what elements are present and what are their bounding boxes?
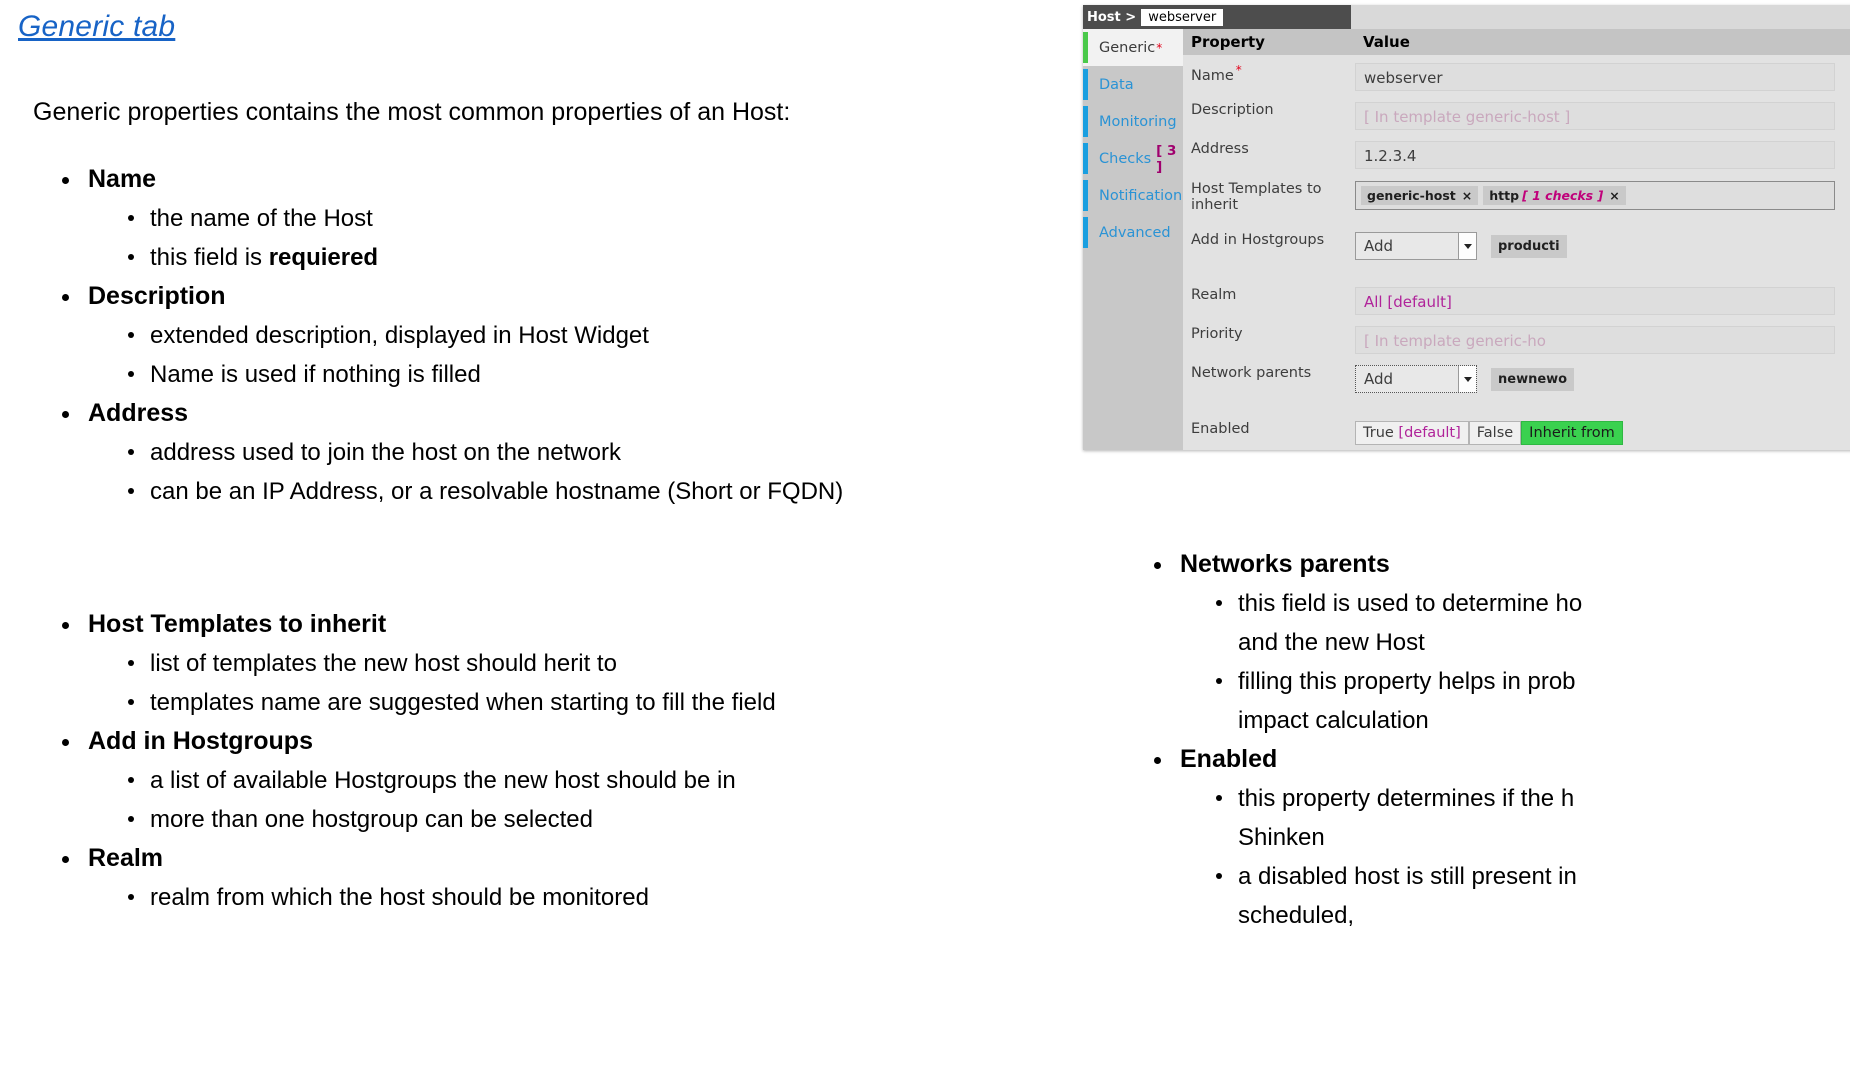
- detail-text: realm from which the host should be moni…: [150, 884, 649, 911]
- bullet-icon: [1154, 757, 1161, 764]
- list-item: realm from which the host should be moni…: [88, 878, 1075, 917]
- template-tag[interactable]: generic-host×: [1361, 186, 1478, 205]
- row-label-text: Add in Hostgroups: [1191, 232, 1324, 248]
- row-value: [ In template generic-host ]: [1355, 102, 1850, 130]
- tab-notifications[interactable]: Notifications: [1083, 177, 1183, 214]
- breadcrumb-host-name: webserver: [1141, 9, 1223, 26]
- table-row: Name* webserver: [1183, 63, 1850, 91]
- sub-list: extended description, displayed in Host …: [88, 316, 1075, 394]
- hostgroups-select-value: Add: [1364, 237, 1393, 255]
- list-item: Add in Hostgroups a list of available Ho…: [0, 722, 1075, 839]
- property-value-table: Property Value Name* webserver Descripti…: [1183, 29, 1850, 450]
- detail-text-continued: impact calculation: [1238, 701, 1850, 740]
- table-row: Host Templates to inherit generic-host× …: [1183, 181, 1850, 213]
- row-value: Add producti: [1355, 232, 1850, 260]
- table-header-row: Property Value: [1183, 29, 1850, 55]
- row-value: [ In template generic-ho: [1355, 326, 1850, 354]
- row-label: Network parents: [1183, 365, 1355, 381]
- bullet-icon: [62, 739, 69, 746]
- bullet-icon: [128, 254, 134, 260]
- bullet-icon: [62, 294, 69, 301]
- tab-label: Notifications: [1099, 188, 1190, 204]
- row-label: Realm: [1183, 287, 1355, 303]
- property-list-right: Networks parents this field is used to d…: [1100, 545, 1850, 935]
- enabled-toggle-group: True [default] False Inherit from: [1355, 421, 1850, 445]
- tab-label: Monitoring: [1099, 114, 1177, 130]
- sub-list: this field is used to determine ho and t…: [1180, 584, 1850, 740]
- bullet-icon: [128, 332, 134, 338]
- detail-text-emphasis: requiered: [269, 244, 378, 271]
- property-name: Name: [88, 165, 156, 193]
- description-input[interactable]: [ In template generic-host ]: [1355, 102, 1835, 130]
- property-name: Networks parents: [1180, 550, 1390, 578]
- tab-status-bar-icon: [1083, 32, 1088, 63]
- row-value: generic-host× http[ 1 checks ]×: [1355, 181, 1850, 210]
- bullet-icon: [1154, 562, 1161, 569]
- row-label-text: Name: [1191, 68, 1234, 84]
- bullet-icon: [62, 177, 69, 184]
- sub-list: the name of the Host this field is requi…: [88, 199, 1075, 277]
- detail-text-continued: and the new Host: [1238, 623, 1850, 662]
- bullet-icon: [62, 856, 69, 863]
- hostgroups-select[interactable]: Add: [1355, 232, 1477, 260]
- detail-text: Name is used if nothing is filled: [150, 361, 481, 388]
- property-name: Address: [88, 399, 188, 427]
- row-label-text: Enabled: [1191, 421, 1250, 437]
- network-parents-select[interactable]: Add: [1355, 365, 1477, 393]
- bullet-icon: [128, 777, 134, 783]
- tab-advanced[interactable]: Advanced: [1083, 214, 1183, 251]
- row-label-text: Realm: [1191, 287, 1236, 303]
- table-row: Address 1.2.3.4: [1183, 141, 1850, 169]
- list-item: a disabled host is still present in sche…: [1180, 857, 1850, 935]
- name-input[interactable]: webserver: [1355, 63, 1835, 91]
- detail-text: this property determines if the h: [1238, 779, 1850, 818]
- documentation-right-column: Networks parents this field is used to d…: [1100, 545, 1850, 935]
- template-tag-label: http: [1489, 188, 1519, 203]
- sub-list: address used to join the host on the net…: [88, 433, 1075, 511]
- detail-text: filling this property helps in prob: [1238, 662, 1850, 701]
- property-list-bottom: Host Templates to inherit list of templa…: [0, 605, 1075, 917]
- row-label-text: Network parents: [1191, 365, 1311, 381]
- tab-data[interactable]: Data: [1083, 66, 1183, 103]
- bullet-icon: [128, 894, 134, 900]
- list-item: this field is used to determine ho and t…: [1180, 584, 1850, 662]
- detail-text: address used to join the host on the net…: [150, 439, 621, 466]
- chevron-down-icon[interactable]: [1458, 233, 1476, 259]
- list-item: can be an IP Address, or a resolvable ho…: [88, 472, 1075, 511]
- priority-input[interactable]: [ In template generic-ho: [1355, 326, 1835, 354]
- tab-sidebar: Generic* Data Monitoring Checks[ 3 ] Not…: [1083, 29, 1183, 450]
- row-label: Priority: [1183, 326, 1355, 342]
- table-row: Realm All [default]: [1183, 287, 1850, 315]
- bullet-icon: [62, 411, 69, 418]
- detail-text: a disabled host is still present in: [1238, 857, 1850, 896]
- list-item: a list of available Hostgroups the new h…: [88, 761, 1075, 800]
- list-item: this property determines if the h Shinke…: [1180, 779, 1850, 857]
- list-item: Host Templates to inherit list of templa…: [0, 605, 1075, 722]
- tab-label: Generic: [1099, 40, 1155, 56]
- row-label: Description: [1183, 102, 1355, 118]
- row-label: Enabled: [1183, 421, 1355, 437]
- tab-generic[interactable]: Generic*: [1083, 29, 1183, 66]
- template-tag[interactable]: http[ 1 checks ]×: [1483, 186, 1625, 205]
- list-item: the name of the Host: [88, 199, 1075, 238]
- detail-text: this field is used to determine ho: [1238, 584, 1850, 623]
- breadcrumb: Host > webserver: [1083, 5, 1351, 29]
- row-label: Address: [1183, 141, 1355, 157]
- list-item: this field is requiered: [88, 238, 1075, 277]
- enabled-true-button[interactable]: True [default]: [1355, 421, 1469, 445]
- property-name: Host Templates to inherit: [88, 610, 386, 638]
- bullet-icon: [128, 488, 134, 494]
- bullet-icon: [128, 215, 134, 221]
- table-row: Network parents Add newnewo: [1183, 365, 1850, 393]
- list-item: Name is used if nothing is filled: [88, 355, 1075, 394]
- detail-text: this field is: [150, 244, 269, 271]
- detail-text: extended description, displayed in Host …: [150, 322, 649, 349]
- chevron-down-icon[interactable]: [1458, 366, 1476, 392]
- row-value: All [default]: [1355, 287, 1850, 315]
- column-header-value: Value: [1353, 33, 1410, 51]
- list-item: Networks parents this field is used to d…: [1100, 545, 1850, 740]
- sub-list: a list of available Hostgroups the new h…: [88, 761, 1075, 839]
- column-header-property: Property: [1183, 33, 1353, 51]
- row-value: 1.2.3.4: [1355, 141, 1850, 169]
- detail-text: templates name are suggested when starti…: [150, 689, 776, 716]
- detail-text: can be an IP Address, or a resolvable ho…: [150, 478, 843, 505]
- tab-monitoring[interactable]: Monitoring: [1083, 103, 1183, 140]
- list-item: templates name are suggested when starti…: [88, 683, 1075, 722]
- enabled-default-marker: [default]: [1398, 425, 1460, 441]
- bullet-icon: [1216, 678, 1222, 684]
- tab-label: Data: [1099, 77, 1134, 93]
- list-item: Realm realm from which the host should b…: [0, 839, 1075, 917]
- bullet-icon: [128, 371, 134, 377]
- detail-text-continued: scheduled,: [1238, 896, 1850, 935]
- property-list-top: Name the name of the Host this field is …: [0, 160, 1075, 511]
- detail-text-continued: Shinken: [1238, 818, 1850, 857]
- detail-text: a list of available Hostgroups the new h…: [150, 767, 736, 794]
- enabled-false-button[interactable]: False: [1469, 421, 1521, 445]
- property-name: Add in Hostgroups: [88, 727, 313, 755]
- tab-status-bar-icon: [1083, 217, 1088, 248]
- table-row: Enabled True [default] False Inherit fro…: [1183, 421, 1850, 445]
- realm-input[interactable]: All [default]: [1355, 287, 1835, 315]
- row-value: webserver: [1355, 63, 1850, 91]
- remove-tag-icon[interactable]: ×: [1609, 188, 1619, 203]
- list-item: Address address used to join the host on…: [0, 394, 1075, 511]
- tab-badge-count: [ 3 ]: [1156, 143, 1183, 175]
- list-item: address used to join the host on the net…: [88, 433, 1075, 472]
- table-row: Add in Hostgroups Add producti: [1183, 232, 1850, 260]
- bullet-icon: [128, 816, 134, 822]
- row-label: Name*: [1183, 63, 1355, 84]
- table-row: Description [ In template generic-host ]: [1183, 102, 1850, 130]
- list-item: Enabled this property determines if the …: [1100, 740, 1850, 935]
- property-name: Enabled: [1180, 745, 1277, 773]
- row-label-text: Host Templates to inherit: [1191, 181, 1322, 213]
- breadcrumb-root: Host >: [1087, 10, 1136, 25]
- detail-text: more than one hostgroup can be selected: [150, 806, 593, 833]
- bullet-icon: [1216, 873, 1222, 879]
- property-name: Realm: [88, 844, 163, 872]
- tab-status-bar-icon: [1083, 180, 1088, 211]
- host-config-screenshot: Host > webserver Generic* Data Monitorin…: [1083, 5, 1850, 450]
- tab-checks[interactable]: Checks[ 3 ]: [1083, 140, 1183, 177]
- hostgroup-chip[interactable]: producti: [1491, 235, 1567, 258]
- page-title-link[interactable]: Generic tab: [18, 10, 175, 44]
- network-parent-chip[interactable]: newnewo: [1491, 368, 1574, 391]
- network-parents-select-value: Add: [1364, 370, 1393, 388]
- required-asterisk-icon: *: [1236, 63, 1242, 77]
- tab-status-bar-icon: [1083, 143, 1088, 174]
- row-label-text: Description: [1191, 102, 1274, 118]
- property-name: Description: [88, 282, 226, 310]
- bullet-icon: [128, 449, 134, 455]
- host-templates-input[interactable]: generic-host× http[ 1 checks ]×: [1355, 181, 1835, 210]
- row-label-text: Address: [1191, 141, 1249, 157]
- list-item: filling this property helps in prob impa…: [1180, 662, 1850, 740]
- row-value: True [default] False Inherit from: [1355, 421, 1850, 445]
- tab-status-bar-icon: [1083, 106, 1088, 137]
- documentation-left-column: Generic tab Generic properties contains …: [0, 0, 1075, 1080]
- bullet-icon: [128, 660, 134, 666]
- tab-label: Advanced: [1099, 225, 1171, 241]
- bullet-icon: [62, 622, 69, 629]
- row-value: Add newnewo: [1355, 365, 1850, 393]
- list-item: Name the name of the Host this field is …: [0, 160, 1075, 277]
- row-label-text: Priority: [1191, 326, 1243, 342]
- intro-paragraph: Generic properties contains the most com…: [33, 98, 790, 127]
- enabled-true-label: True: [1363, 425, 1398, 441]
- detail-text: the name of the Host: [150, 205, 373, 232]
- required-asterisk-icon: *: [1156, 41, 1162, 55]
- sub-list: this property determines if the h Shinke…: [1180, 779, 1850, 935]
- bullet-icon: [1216, 795, 1222, 801]
- row-label: Add in Hostgroups: [1183, 232, 1355, 248]
- sub-list: list of templates the new host should he…: [88, 644, 1075, 722]
- tab-status-bar-icon: [1083, 69, 1088, 100]
- tab-label: Checks: [1099, 151, 1151, 167]
- list-item: list of templates the new host should he…: [88, 644, 1075, 683]
- sub-list: realm from which the host should be moni…: [88, 878, 1075, 917]
- bullet-icon: [1216, 600, 1222, 606]
- list-item: Description extended description, displa…: [0, 277, 1075, 394]
- list-item: more than one hostgroup can be selected: [88, 800, 1075, 839]
- row-label: Host Templates to inherit: [1183, 181, 1355, 213]
- detail-text: list of templates the new host should he…: [150, 650, 617, 677]
- enabled-inherit-button[interactable]: Inherit from: [1521, 421, 1623, 445]
- template-tag-label: generic-host: [1367, 188, 1456, 203]
- list-item: extended description, displayed in Host …: [88, 316, 1075, 355]
- bullet-icon: [128, 699, 134, 705]
- address-input[interactable]: 1.2.3.4: [1355, 141, 1835, 169]
- remove-tag-icon[interactable]: ×: [1462, 188, 1472, 203]
- template-tag-checks-count: [ 1 checks ]: [1522, 188, 1603, 203]
- table-row: Priority [ In template generic-ho: [1183, 326, 1850, 354]
